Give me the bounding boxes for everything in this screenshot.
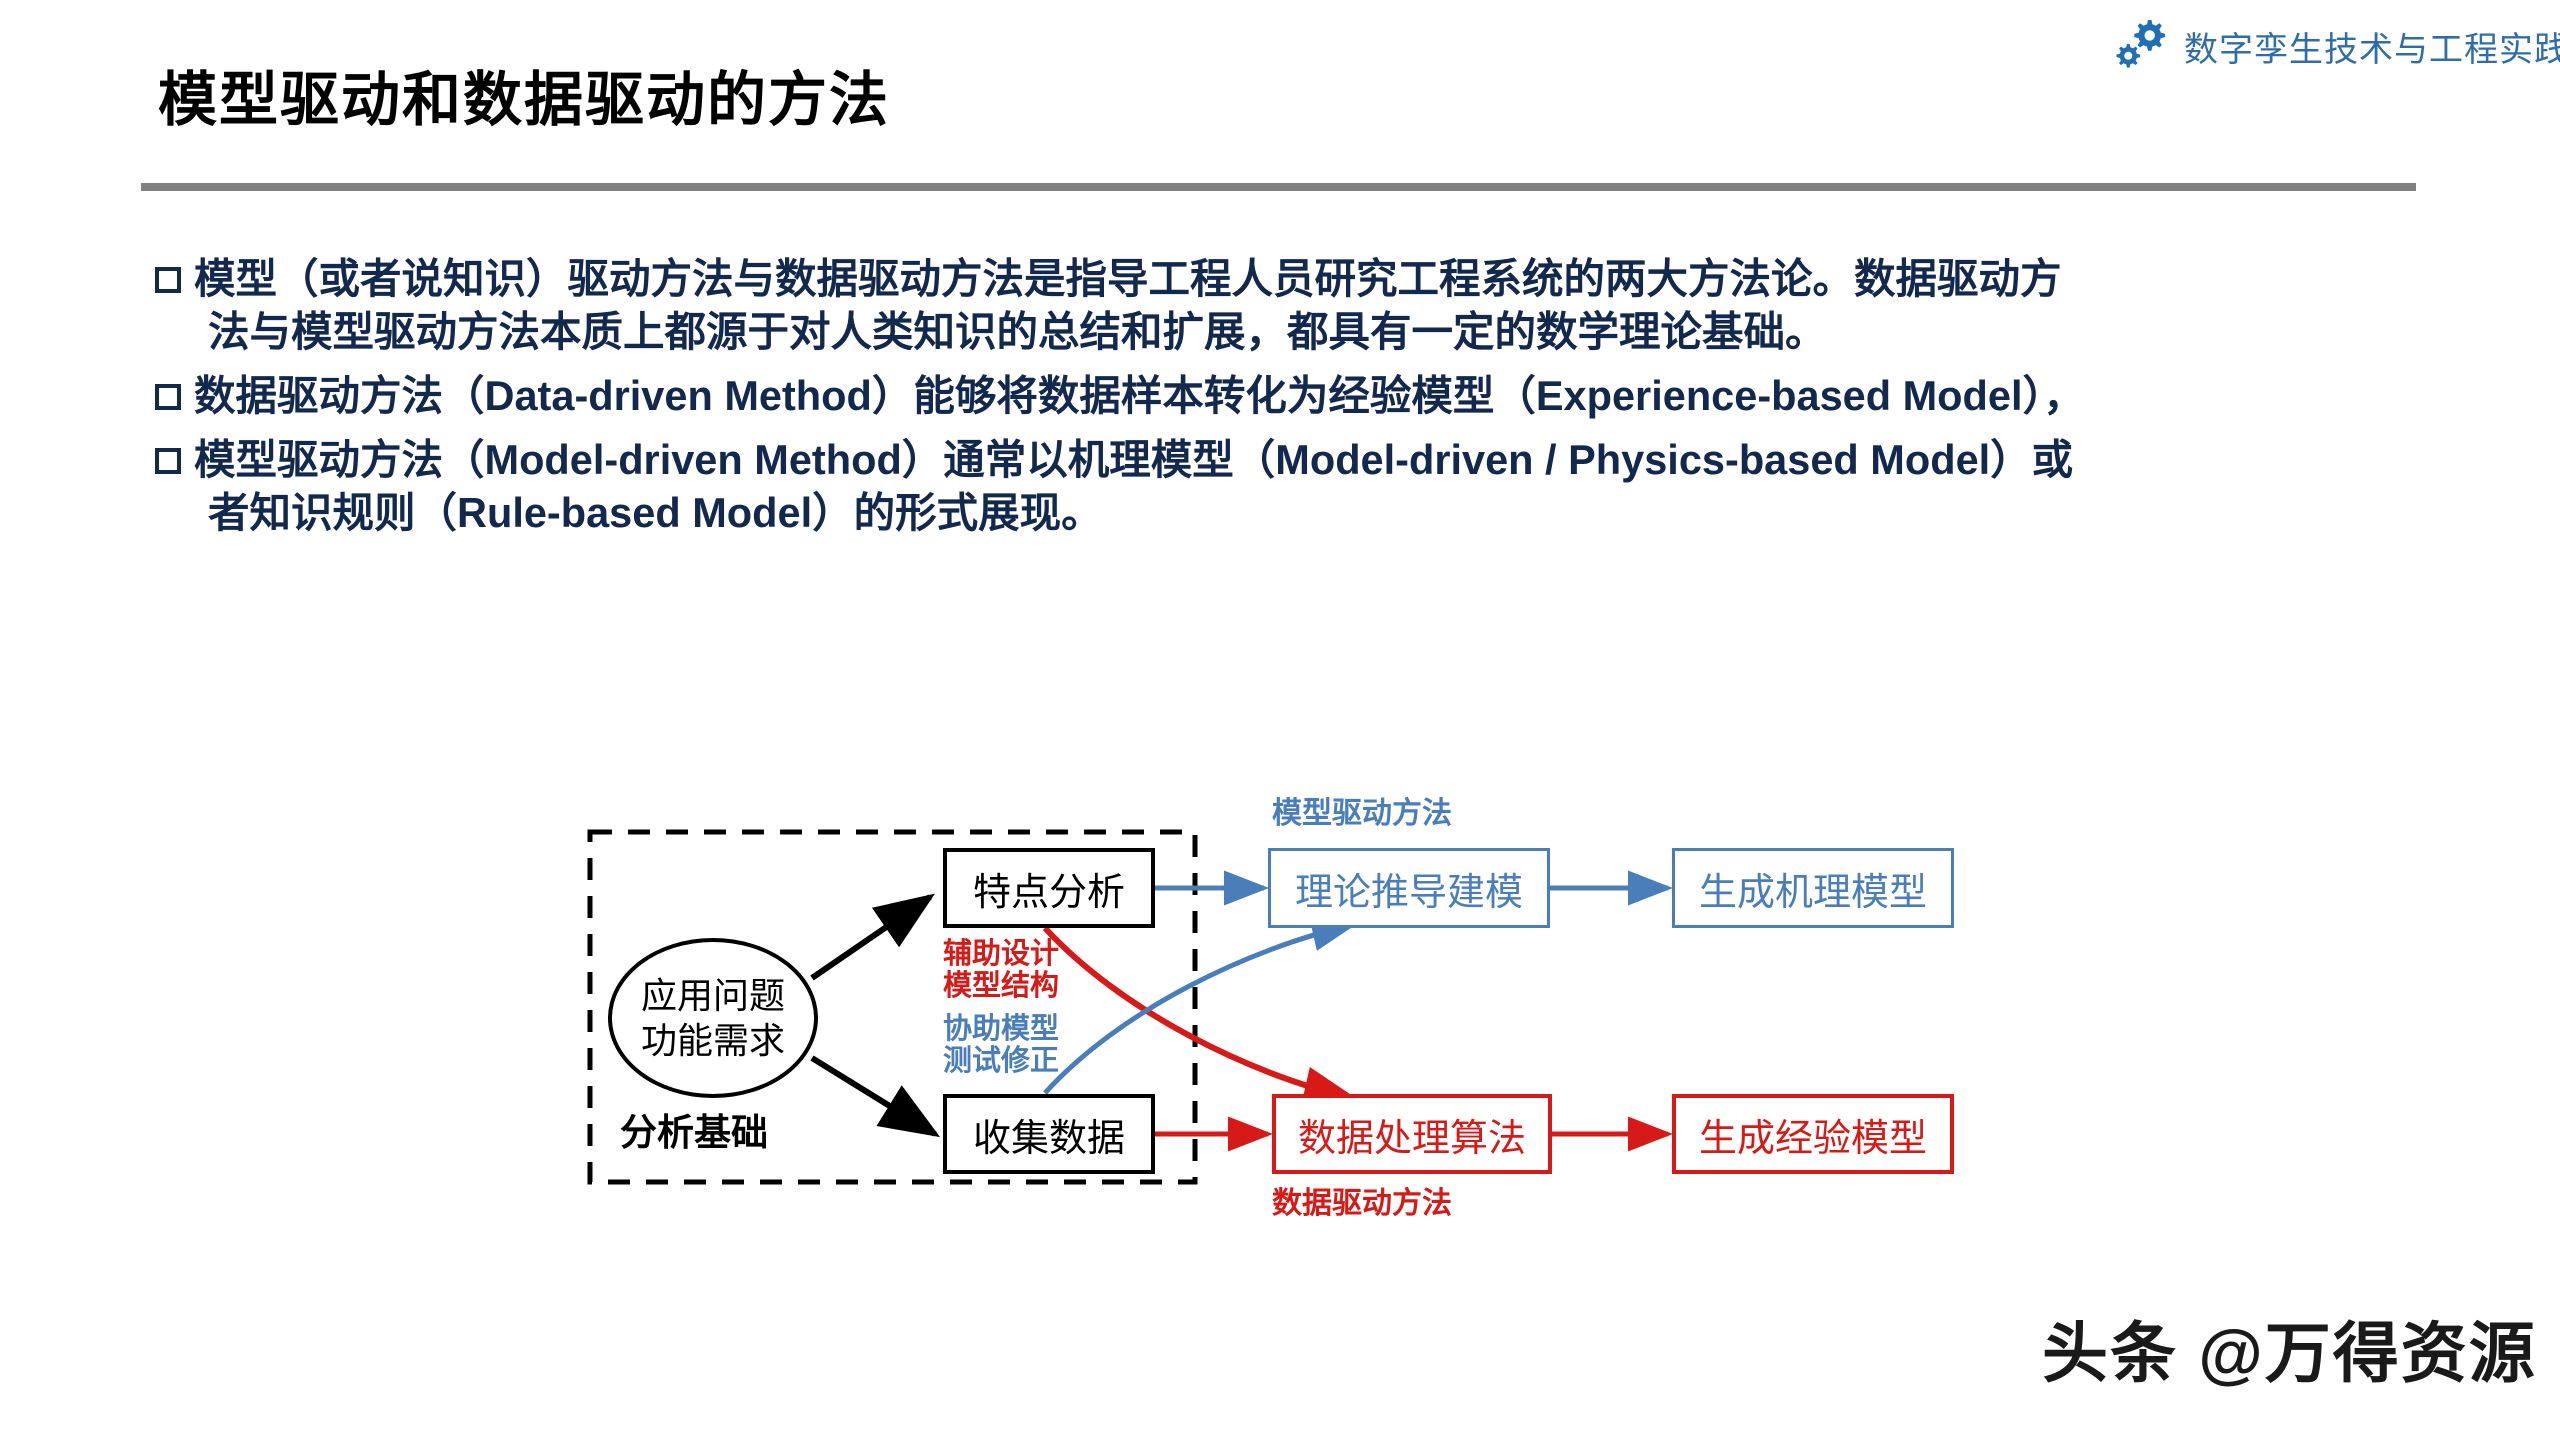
node-theory-modeling[interactable]: 理论推导建模 (1268, 848, 1550, 928)
analysis-basis-boundary (590, 832, 1195, 1182)
label-line: 辅助设计 (943, 938, 1059, 970)
bullet-square-icon (155, 384, 181, 410)
label-line: 测试修正 (943, 1045, 1059, 1077)
bullet-square-icon (155, 448, 181, 474)
node-generate-experience-model[interactable]: 生成经验模型 (1672, 1094, 1954, 1174)
node-feature-analysis[interactable]: 特点分析 (943, 848, 1155, 928)
brand-header: 数字孪生技术与工程实践 (2112, 18, 2560, 74)
label-model-driven-method: 模型驱动方法 (1272, 797, 1452, 831)
node-label: 特点分析 (973, 861, 1125, 916)
node-label: 数据处理算法 (1298, 1107, 1526, 1162)
curve-collect-to-theory (1045, 925, 1352, 1093)
bullet-list: 模型（或者说知识）驱动方法与数据驱动方法是指导工程人员研究工程系统的两大方法论。… (155, 252, 2445, 551)
curve-feature-to-algorithm (1045, 928, 1352, 1098)
diagram-connectors (0, 0, 2560, 1440)
node-label: 生成机理模型 (1699, 861, 1927, 916)
page-title: 模型驱动和数据驱动的方法 (158, 52, 890, 137)
label-data-driven-method: 数据驱动方法 (1272, 1187, 1452, 1221)
label-line: 协助模型 (943, 1013, 1059, 1045)
node-collect-data[interactable]: 收集数据 (943, 1094, 1155, 1174)
label-line: 模型结构 (943, 970, 1059, 1002)
label-analysis-basis: 分析基础 (620, 1112, 768, 1153)
process-diagram: 应用问题 功能需求 分析基础 特点分析 收集数据 理论推导建模 生成机理模型 数… (0, 0, 2560, 1440)
gears-icon (2112, 18, 2170, 74)
bullet-line: 模型驱动方法（Model-driven Method）通常以机理模型（Model… (194, 433, 2073, 486)
arrow-ellipse-to-collect (812, 1058, 935, 1134)
brand-title: 数字孪生技术与工程实践 (2184, 22, 2560, 71)
bullet-text-2: 数据驱动方法（Data-driven Method）能够将数据样本转化为经验模型… (194, 369, 2085, 422)
node-application-problem[interactable]: 应用问题 功能需求 (608, 938, 818, 1098)
bullet-line: 者知识规则（Rule-based Model）的形式展现。 (194, 486, 2073, 539)
node-label: 生成经验模型 (1699, 1107, 1927, 1162)
bullet-item-2: 数据驱动方法（Data-driven Method）能够将数据样本转化为经验模型… (155, 369, 2445, 422)
bullet-item-3: 模型驱动方法（Model-driven Method）通常以机理模型（Model… (155, 433, 2445, 539)
node-label: 收集数据 (973, 1107, 1125, 1162)
bullet-line: 数据驱动方法（Data-driven Method）能够将数据样本转化为经验模型… (194, 369, 2085, 422)
watermark: 头条 @万得资源 (2042, 1300, 2537, 1396)
label-assist-model: 协助模型 测试修正 (943, 1013, 1059, 1078)
bullet-line: 法与模型驱动方法本质上都源于对人类知识的总结和扩展，都具有一定的数学理论基础。 (194, 305, 2062, 358)
bullet-text-1: 模型（或者说知识）驱动方法与数据驱动方法是指导工程人员研究工程系统的两大方法论。… (194, 252, 2062, 358)
node-label: 理论推导建模 (1295, 861, 1523, 916)
bullet-item-1: 模型（或者说知识）驱动方法与数据驱动方法是指导工程人员研究工程系统的两大方法论。… (155, 252, 2445, 358)
node-generate-mechanism-model[interactable]: 生成机理模型 (1672, 848, 1954, 928)
ellipse-line-1: 应用问题 (641, 973, 785, 1018)
bullet-square-icon (155, 267, 181, 293)
ellipse-line-2: 功能需求 (641, 1018, 785, 1063)
node-data-algorithm[interactable]: 数据处理算法 (1272, 1094, 1552, 1174)
bullet-line: 模型（或者说知识）驱动方法与数据驱动方法是指导工程人员研究工程系统的两大方法论。… (194, 252, 2062, 305)
bullet-text-3: 模型驱动方法（Model-driven Method）通常以机理模型（Model… (194, 433, 2073, 539)
title-divider (141, 183, 2416, 191)
arrow-ellipse-to-feature (812, 897, 930, 978)
label-assist-design: 辅助设计 模型结构 (943, 938, 1059, 1003)
